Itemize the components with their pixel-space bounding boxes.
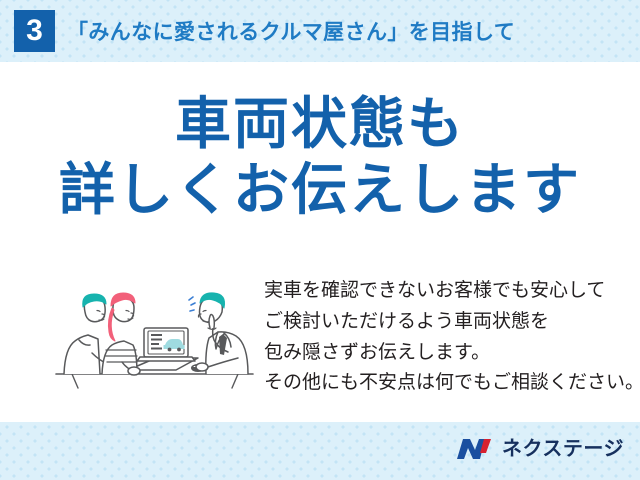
description-line-3: 包み隠さずお伝えします。 — [264, 338, 624, 369]
headline: 車両状態も 詳しくお伝えします — [0, 94, 640, 221]
headline-line-1: 車両状態も — [0, 94, 640, 154]
brand-logo: ネクステージ — [455, 436, 624, 462]
description-text: 実車を確認できないお客様でも安心して ご検討いただけるよう車両状態を 包み隠さず… — [264, 276, 624, 399]
header-strip: 3 「みんなに愛されるクルマ屋さん」を目指して — [0, 0, 640, 62]
consultation-illustration — [52, 270, 257, 395]
description-line-1: 実車を確認できないお客様でも安心して — [264, 276, 624, 307]
header-title: 「みんなに愛されるクルマ屋さん」を目指して — [67, 16, 515, 46]
footer: ネクステージ — [0, 422, 640, 480]
description-line-4: その他にも不安点は何でもご相談ください。 — [264, 368, 624, 399]
lower-row: 実車を確認できないお客様でも安心して ご検討いただけるよう車両状態を 包み隠さず… — [0, 270, 640, 410]
nextage-n-logo-icon — [455, 436, 495, 462]
brand-name: ネクステージ — [502, 439, 624, 459]
headline-line-2: 詳しくお伝えします — [0, 160, 640, 220]
step-number-badge: 3 — [14, 10, 55, 52]
promo-banner: 3 「みんなに愛されるクルマ屋さん」を目指して 車両状態も 詳しくお伝えします — [0, 0, 640, 480]
content-panel: 車両状態も 詳しくお伝えします — [0, 62, 640, 422]
description-line-2: ご検討いただけるよう車両状態を — [264, 307, 624, 338]
